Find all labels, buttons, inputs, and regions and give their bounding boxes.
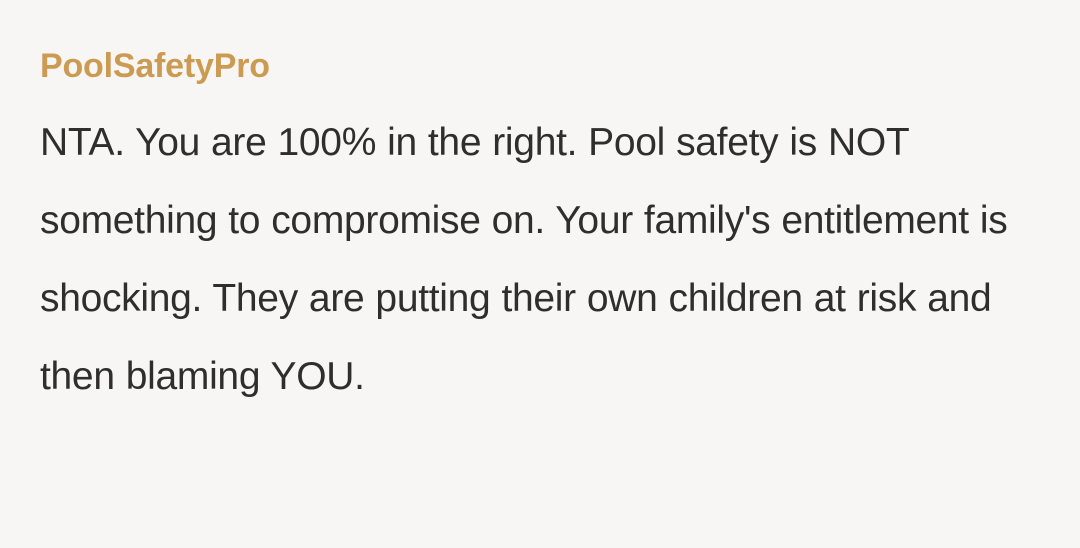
comment-card: PoolSafetyPro NTA. You are 100% in the r…: [0, 0, 1080, 548]
comment-body-text: NTA. You are 100% in the right. Pool saf…: [40, 104, 1050, 416]
comment-author-username[interactable]: PoolSafetyPro: [40, 40, 1060, 92]
